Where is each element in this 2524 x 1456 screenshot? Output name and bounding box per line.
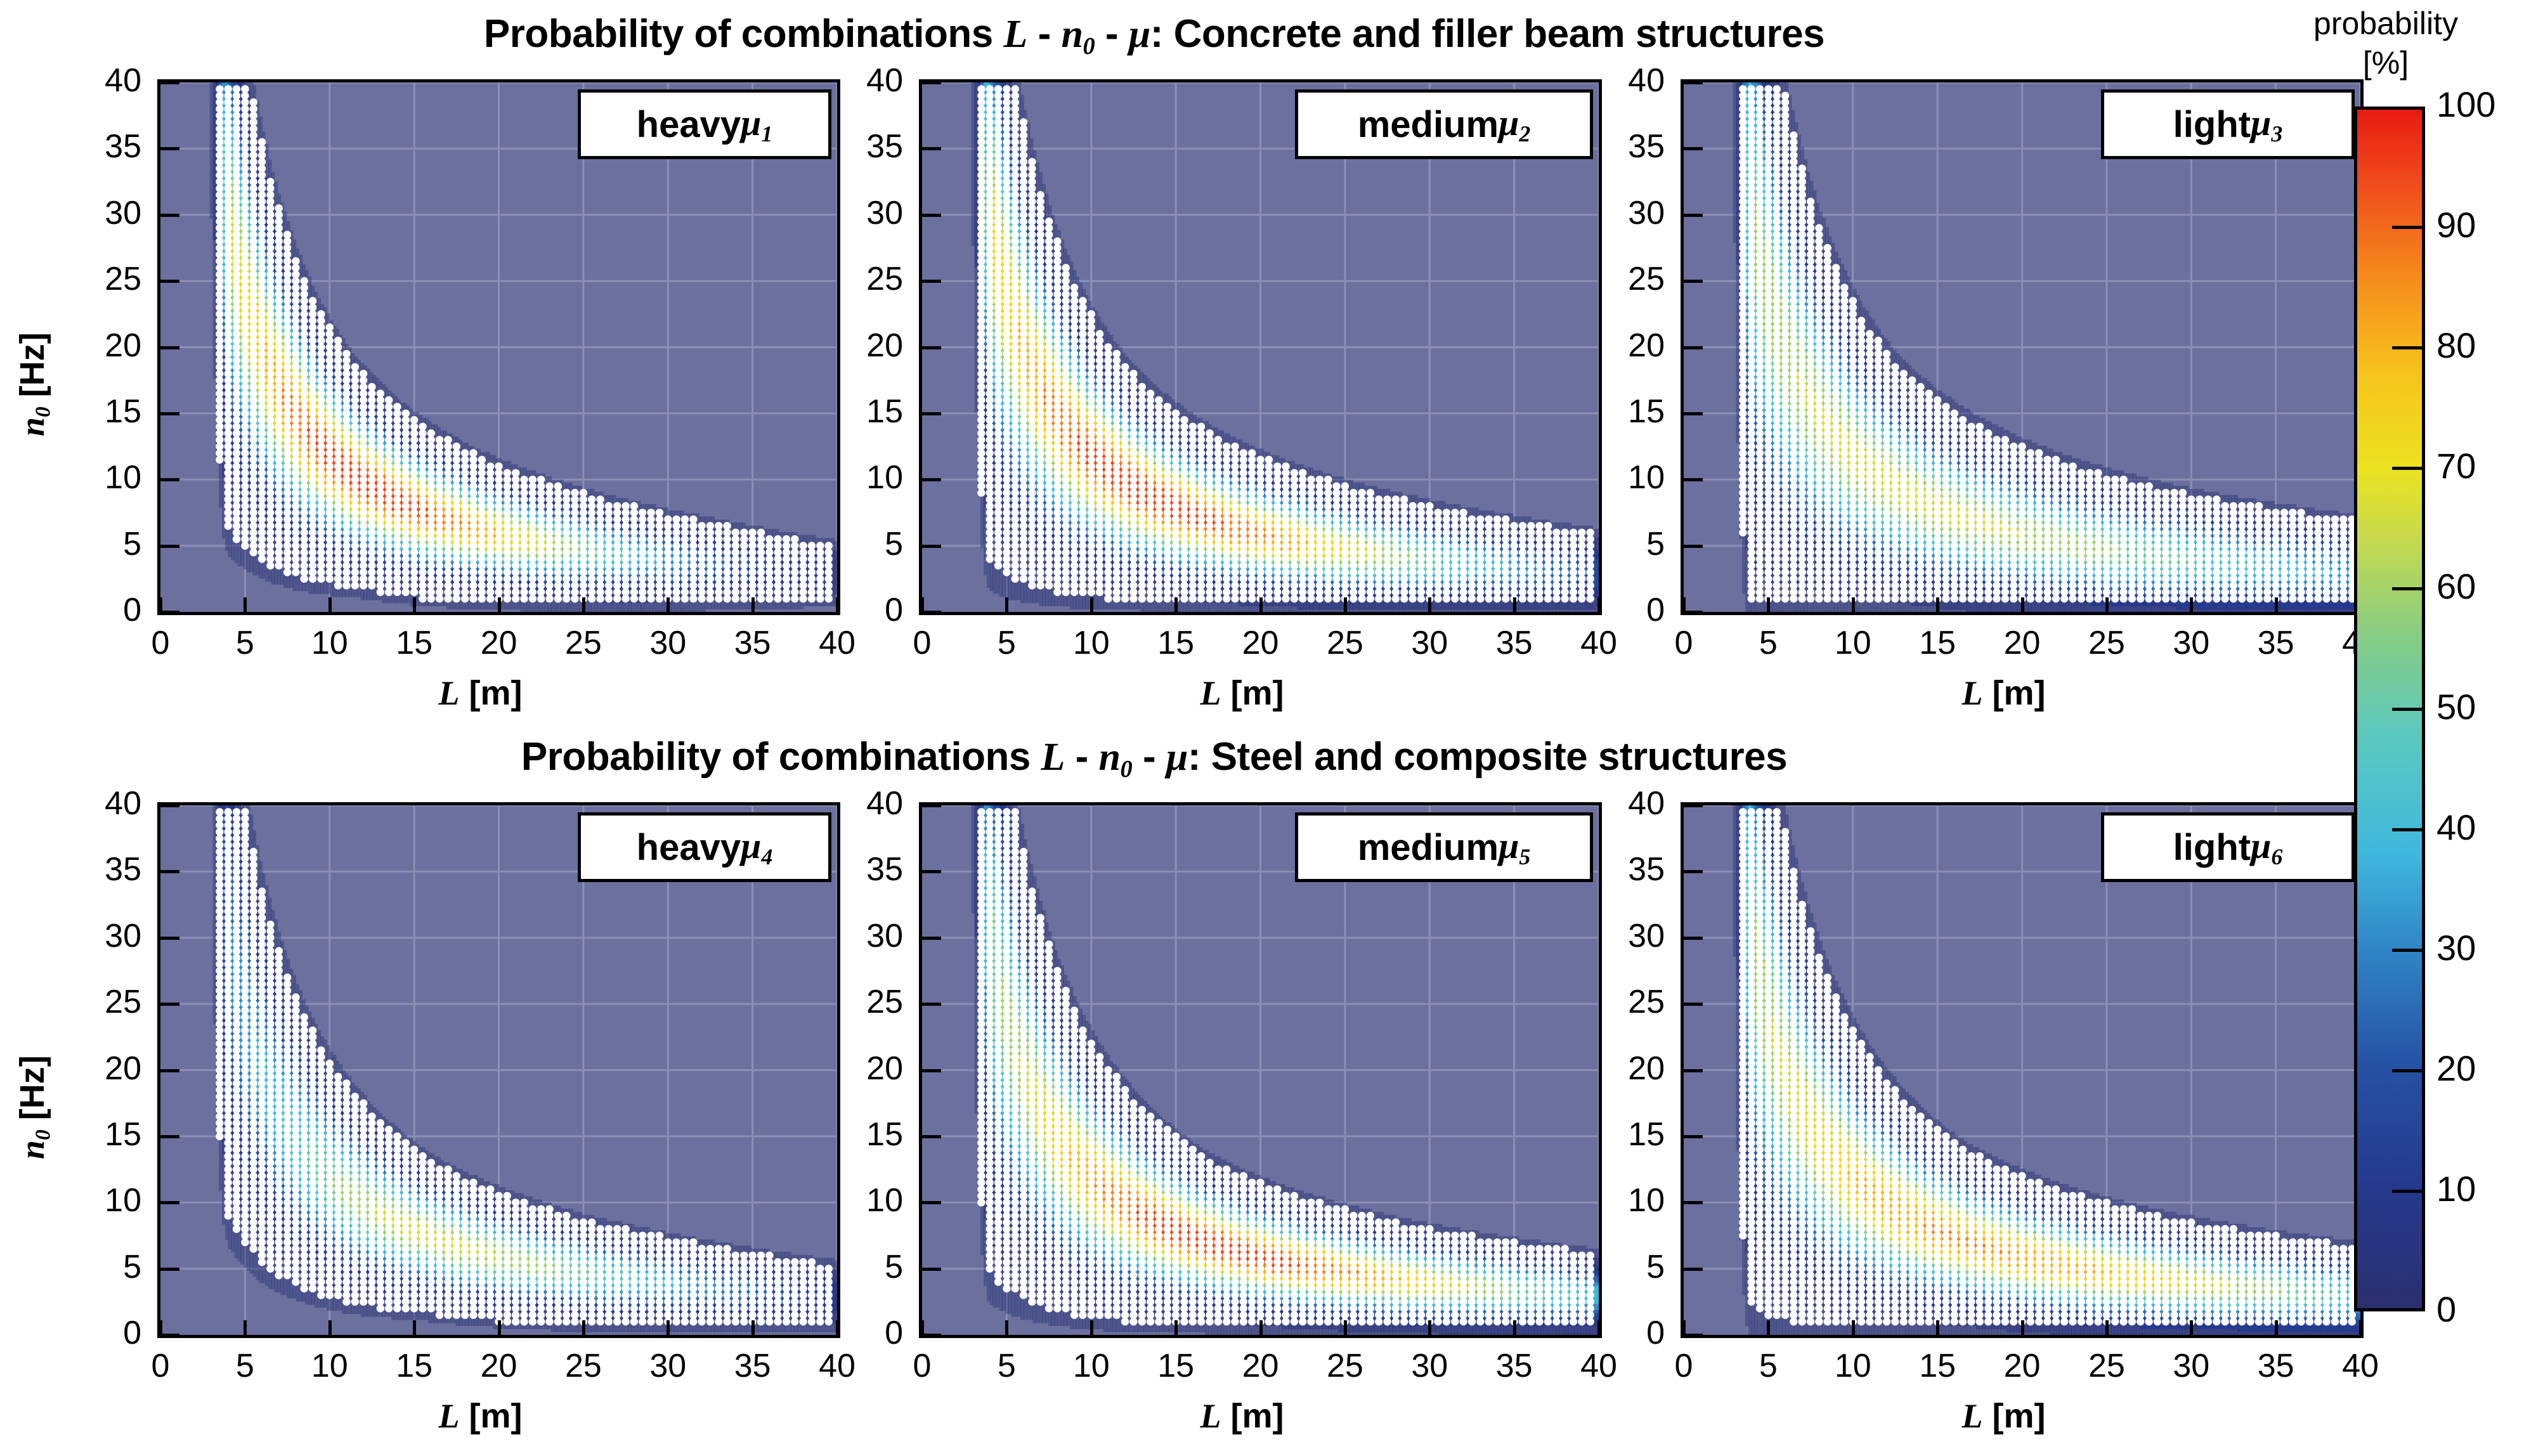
x-tickmark-p6-7 — [2275, 1320, 2278, 1337]
y-tick-p4-8: 40 — [46, 784, 141, 822]
y-tickmark-p6-3 — [1684, 1135, 1703, 1138]
x-tickmark-p4-6 — [667, 1320, 670, 1337]
colorbar-tick-label-0: 100 — [2436, 84, 2495, 125]
colorbar-tick-label-8: 20 — [2436, 1048, 2476, 1089]
y-tick-p3-4: 20 — [1570, 327, 1665, 365]
x-tick-p5-8: 40 — [1551, 1347, 1646, 1385]
x-tickmark-p2-5 — [1344, 597, 1347, 614]
x-tick-p5-7: 35 — [1467, 1347, 1562, 1385]
y-tickmark-p1-5 — [160, 280, 179, 283]
x-tickmark-p1-3 — [413, 597, 416, 614]
y-tickmark-p1-2 — [160, 478, 179, 481]
y-tick-p1-1: 5 — [46, 525, 141, 563]
y-axis-title-p1: n0 [Hz] — [13, 332, 55, 436]
x-tick-p3-7: 35 — [2228, 624, 2324, 662]
y-tick-p3-7: 35 — [1570, 127, 1665, 166]
x-tickmark-p4-1 — [244, 1320, 247, 1337]
x-tickmark-p3-5 — [2105, 597, 2109, 614]
plot-area-p6[interactable] — [1681, 802, 2364, 1338]
x-axis-title-p3: L [m] — [1962, 673, 2046, 713]
y-tickmark-p4-2 — [160, 1201, 179, 1204]
x-tickmark-p1-1 — [244, 597, 247, 614]
x-tickmark-p3-2 — [1852, 597, 1855, 614]
contour-canvas-p5 — [922, 805, 1599, 1335]
y-tickmark-p5-3 — [922, 1135, 941, 1138]
y-tickmark-p4-6 — [160, 937, 179, 940]
y-tick-p5-4: 20 — [808, 1050, 903, 1088]
y-tick-p6-5: 25 — [1570, 983, 1665, 1021]
x-tickmark-p2-7 — [1513, 597, 1516, 614]
badge-label-p5: medium — [1358, 826, 1499, 869]
x-tick-p2-7: 35 — [1467, 624, 1562, 662]
y-tick-p4-4: 20 — [46, 1050, 141, 1088]
x-tick-p6-6: 30 — [2143, 1347, 2239, 1385]
x-tick-p2-2: 10 — [1044, 624, 1139, 662]
y-axis-title-p4: n0 [Hz] — [13, 1055, 55, 1159]
badge-mu-p1: μ1 — [741, 101, 772, 147]
colorbar-tickmark-7 — [2392, 949, 2423, 952]
y-tickmark-p4-5 — [160, 1003, 179, 1006]
colorbar-tick-label-6: 40 — [2436, 807, 2476, 848]
x-tick-p3-5: 25 — [2059, 624, 2154, 662]
y-tick-p5-1: 5 — [808, 1248, 903, 1286]
y-tickmark-p5-8 — [922, 804, 941, 807]
x-tickmark-p2-3 — [1174, 597, 1178, 614]
y-tickmark-p4-8 — [160, 804, 179, 807]
y-tickmark-p2-6 — [922, 214, 941, 217]
colorbar-tickmark-6 — [2392, 828, 2423, 831]
x-tickmark-p3-3 — [1936, 597, 1939, 614]
x-tick-p1-5: 25 — [536, 624, 631, 662]
x-tick-p6-3: 15 — [1890, 1347, 1985, 1385]
x-axis-title-p1: L [m] — [439, 673, 523, 713]
row-title-1: Probability of combinations L - n0 - μ: … — [0, 734, 2308, 783]
x-tick-p3-0: 0 — [1636, 624, 1731, 662]
contour-canvas-p1 — [160, 82, 837, 612]
y-tick-p6-3: 15 — [1570, 1115, 1665, 1154]
plot-area-p3[interactable] — [1681, 79, 2364, 615]
y-tickmark-p1-1 — [160, 545, 179, 548]
panel-badge-p4: heavy μ4 — [578, 812, 831, 882]
panel-badge-p6: light μ6 — [2101, 812, 2355, 882]
y-tick-p5-7: 35 — [808, 850, 903, 888]
x-tickmark-p3-4 — [2021, 597, 2024, 614]
y-tick-p4-6: 30 — [46, 917, 141, 955]
y-tickmark-p3-4 — [1684, 346, 1703, 349]
x-tickmark-p4-2 — [329, 1320, 332, 1337]
row-title-var-mu: μ — [1129, 13, 1150, 56]
y-tick-p2-4: 20 — [808, 327, 903, 365]
contour-canvas-p3 — [1684, 82, 2360, 612]
y-tickmark-p3-2 — [1684, 478, 1703, 481]
colorbar-tickmark-8 — [2392, 1069, 2423, 1072]
x-tickmark-p4-3 — [413, 1320, 416, 1337]
x-tickmark-p5-1 — [1005, 1320, 1008, 1337]
panel-badge-p5: medium μ5 — [1295, 812, 1593, 882]
colorbar-tick-label-3: 70 — [2436, 445, 2476, 486]
badge-mu-p2: μ2 — [1499, 101, 1530, 147]
x-tick-p6-1: 5 — [1721, 1347, 1816, 1385]
x-axis-title-p4: L [m] — [439, 1396, 523, 1436]
badge-mu-p3: μ3 — [2251, 101, 2282, 147]
x-tickmark-p6-8 — [2359, 1320, 2362, 1337]
y-tick-p3-3: 15 — [1570, 393, 1665, 431]
colorbar-tick-label-9: 10 — [2436, 1168, 2476, 1209]
x-axis-title-p2: L [m] — [1200, 673, 1284, 713]
y-tickmark-p3-5 — [1684, 280, 1703, 283]
row-title-prefix: Probability of combinations — [484, 12, 1004, 56]
x-tickmark-p3-1 — [1767, 597, 1770, 614]
x-tick-p4-3: 15 — [367, 1347, 462, 1385]
y-tick-p6-2: 10 — [1570, 1181, 1665, 1219]
x-tickmark-p6-2 — [1852, 1320, 1855, 1337]
y-tick-p4-0: 0 — [46, 1314, 141, 1352]
y-tick-p1-5: 25 — [46, 260, 141, 298]
y-tick-p5-0: 0 — [808, 1314, 903, 1352]
colorbar-tick-label-5: 50 — [2436, 686, 2476, 727]
row-title-var-n: n0 — [1099, 736, 1133, 779]
badge-mu-p4: μ4 — [741, 824, 772, 870]
x-tickmark-p2-6 — [1428, 597, 1431, 614]
row-title-var-n: n0 — [1061, 13, 1095, 56]
y-tick-p5-5: 25 — [808, 983, 903, 1021]
x-tick-p2-8: 40 — [1551, 624, 1646, 662]
y-tick-p2-1: 5 — [808, 525, 903, 563]
colorbar-tick-label-4: 60 — [2436, 566, 2476, 607]
y-tick-p5-6: 30 — [808, 917, 903, 955]
y-tickmark-p2-0 — [922, 611, 941, 614]
y-tick-p4-7: 35 — [46, 850, 141, 888]
x-tickmark-p6-5 — [2105, 1320, 2109, 1337]
y-tick-p2-2: 10 — [808, 458, 903, 497]
y-tickmark-p3-8 — [1684, 81, 1703, 84]
x-axis-title-p5: L [m] — [1200, 1396, 1284, 1436]
x-tick-p4-2: 10 — [282, 1347, 377, 1385]
y-tickmark-p4-3 — [160, 1135, 179, 1138]
x-tick-p2-5: 25 — [1298, 624, 1393, 662]
y-tickmark-p4-0 — [160, 1334, 179, 1337]
x-tick-p5-1: 5 — [959, 1347, 1054, 1385]
x-tickmark-p3-7 — [2275, 597, 2278, 614]
figure-root: Probability of combinations L - n0 - μ: … — [0, 0, 2524, 1456]
y-tick-p1-7: 35 — [46, 127, 141, 166]
x-tickmark-p3-0 — [1682, 597, 1686, 614]
y-tickmark-p5-5 — [922, 1003, 941, 1006]
y-tick-p6-0: 0 — [1570, 1314, 1665, 1352]
x-tick-p4-1: 5 — [197, 1347, 292, 1385]
x-tick-p4-4: 20 — [452, 1347, 547, 1385]
row-title-0: Probability of combinations L - n0 - μ: … — [0, 11, 2308, 60]
y-tick-p3-5: 25 — [1570, 260, 1665, 298]
y-tickmark-p5-7 — [922, 870, 941, 873]
x-tickmark-p5-6 — [1428, 1320, 1431, 1337]
y-tickmark-p6-0 — [1684, 1334, 1703, 1337]
colorbar-title-line1: probability — [2221, 5, 2524, 42]
contour-canvas-p4 — [160, 805, 837, 1335]
x-tick-p1-2: 10 — [282, 624, 377, 662]
row-title-var-L: L — [1003, 13, 1027, 56]
colorbar-tick-label-2: 80 — [2436, 325, 2476, 366]
y-tickmark-p5-1 — [922, 1268, 941, 1271]
badge-label-p6: light — [2173, 826, 2251, 869]
y-tickmark-p1-3 — [160, 412, 179, 415]
x-tick-p6-0: 0 — [1636, 1347, 1731, 1385]
y-tick-p1-4: 20 — [46, 327, 141, 365]
colorbar-tickmark-5 — [2392, 708, 2423, 711]
x-tick-p2-4: 20 — [1213, 624, 1308, 662]
x-tick-p5-3: 15 — [1128, 1347, 1223, 1385]
y-tick-p4-3: 15 — [46, 1115, 141, 1154]
y-tickmark-p5-2 — [922, 1201, 941, 1204]
x-tickmark-p5-7 — [1513, 1320, 1516, 1337]
y-tickmark-p2-3 — [922, 412, 941, 415]
x-tickmark-p1-5 — [582, 597, 585, 614]
x-tick-p4-7: 35 — [705, 1347, 800, 1385]
y-tick-p6-6: 30 — [1570, 917, 1665, 955]
colorbar-tickmark-2 — [2392, 346, 2423, 349]
x-tickmark-p2-2 — [1090, 597, 1093, 614]
y-tickmark-p6-6 — [1684, 937, 1703, 940]
plot-area-p2[interactable] — [919, 79, 1602, 615]
y-tick-p2-7: 35 — [808, 127, 903, 166]
y-tickmark-p2-7 — [922, 147, 941, 150]
y-tick-p3-0: 0 — [1570, 591, 1665, 629]
x-tick-p5-5: 25 — [1298, 1347, 1393, 1385]
x-tick-p6-2: 10 — [1805, 1347, 1901, 1385]
colorbar-tickmark-1 — [2392, 226, 2423, 229]
x-tickmark-p4-0 — [159, 1320, 162, 1337]
panel-badge-p1: heavy μ1 — [578, 89, 831, 159]
panel-badge-p2: medium μ2 — [1295, 89, 1593, 159]
x-tick-p1-1: 5 — [197, 624, 292, 662]
contour-canvas-p2 — [922, 82, 1599, 612]
y-tickmark-p5-0 — [922, 1334, 941, 1337]
y-tickmark-p4-4 — [160, 1069, 179, 1072]
colorbar-tick-label-10: 0 — [2436, 1289, 2456, 1330]
y-tickmark-p1-8 — [160, 81, 179, 84]
y-tick-p6-1: 5 — [1570, 1248, 1665, 1286]
x-tickmark-p6-4 — [2021, 1320, 2024, 1337]
y-tick-p3-8: 40 — [1570, 62, 1665, 100]
row-title-suffix: Steel and composite structures — [1211, 735, 1787, 779]
y-tickmark-p6-4 — [1684, 1069, 1703, 1072]
y-tick-p4-2: 10 — [46, 1181, 141, 1219]
x-tick-p2-1: 5 — [959, 624, 1054, 662]
x-tickmark-p4-5 — [582, 1320, 585, 1337]
colorbar-tick-label-7: 30 — [2436, 927, 2476, 968]
y-tickmark-p3-6 — [1684, 214, 1703, 217]
x-tickmark-p6-1 — [1767, 1320, 1770, 1337]
y-tickmark-p6-2 — [1684, 1201, 1703, 1204]
x-tick-p6-7: 35 — [2228, 1347, 2324, 1385]
x-tick-p3-4: 20 — [1975, 624, 2070, 662]
y-tickmark-p1-4 — [160, 346, 179, 349]
y-tick-p3-1: 5 — [1570, 525, 1665, 563]
y-tick-p2-8: 40 — [808, 62, 903, 100]
x-tick-p1-8: 40 — [790, 624, 885, 662]
x-tick-p5-6: 30 — [1382, 1347, 1477, 1385]
x-tick-p1-6: 30 — [620, 624, 715, 662]
x-tickmark-p2-0 — [921, 597, 924, 614]
x-tickmark-p4-4 — [498, 1320, 501, 1337]
y-tick-p4-1: 5 — [46, 1248, 141, 1286]
colorbar-tickmark-3 — [2392, 467, 2423, 470]
x-tick-p6-8: 40 — [2313, 1347, 2408, 1385]
y-tickmark-p3-1 — [1684, 545, 1703, 548]
y-tick-p5-3: 15 — [808, 1115, 903, 1154]
row-title-suffix: Concrete and filler beam structures — [1174, 12, 1825, 56]
y-tickmark-p2-4 — [922, 346, 941, 349]
x-tick-p3-2: 10 — [1805, 624, 1901, 662]
x-tickmark-p1-4 — [498, 597, 501, 614]
y-tickmark-p2-1 — [922, 545, 941, 548]
y-tickmark-p6-7 — [1684, 870, 1703, 873]
y-tick-p6-4: 20 — [1570, 1050, 1665, 1088]
x-tickmark-p5-0 — [921, 1320, 924, 1337]
x-tick-p4-6: 30 — [620, 1347, 715, 1385]
row-title-prefix: Probability of combinations — [521, 735, 1041, 779]
x-tickmark-p5-2 — [1090, 1320, 1093, 1337]
x-tick-p2-6: 30 — [1382, 624, 1477, 662]
y-tick-p6-7: 35 — [1570, 850, 1665, 888]
row-title-var-mu: μ — [1166, 736, 1188, 779]
y-tickmark-p2-5 — [922, 280, 941, 283]
x-tick-p2-3: 15 — [1128, 624, 1223, 662]
plot-area-p1[interactable] — [157, 79, 840, 615]
x-tickmark-p6-0 — [1682, 1320, 1686, 1337]
x-tick-p4-0: 0 — [113, 1347, 208, 1385]
x-tickmark-p6-6 — [2190, 1320, 2193, 1337]
x-tick-p5-2: 10 — [1044, 1347, 1139, 1385]
x-tickmark-p1-2 — [329, 597, 332, 614]
y-tickmark-p1-6 — [160, 214, 179, 217]
x-tickmark-p6-3 — [1936, 1320, 1939, 1337]
badge-mu-p6: μ6 — [2251, 824, 2282, 870]
y-tick-p5-8: 40 — [808, 784, 903, 822]
y-tick-p6-8: 40 — [1570, 784, 1665, 822]
x-tick-p4-8: 40 — [790, 1347, 885, 1385]
y-tick-p1-2: 10 — [46, 458, 141, 497]
x-tickmark-p5-3 — [1174, 1320, 1178, 1337]
colorbar-tickmark-4 — [2392, 587, 2423, 590]
y-tick-p1-0: 0 — [46, 591, 141, 629]
panel-badge-p3: light μ3 — [2101, 89, 2355, 159]
x-tickmark-p2-4 — [1259, 597, 1263, 614]
y-tick-p3-2: 10 — [1570, 458, 1665, 497]
x-tick-p4-5: 25 — [536, 1347, 631, 1385]
colorbar-title-line2: [%] — [2221, 44, 2524, 81]
y-tickmark-p4-1 — [160, 1268, 179, 1271]
y-tick-p5-2: 10 — [808, 1181, 903, 1219]
x-tickmark-p5-4 — [1259, 1320, 1263, 1337]
y-tickmark-p6-5 — [1684, 1003, 1703, 1006]
y-tickmark-p3-7 — [1684, 147, 1703, 150]
x-tick-p5-0: 0 — [875, 1347, 970, 1385]
x-tick-p3-6: 30 — [2143, 624, 2239, 662]
x-tick-p1-7: 35 — [705, 624, 800, 662]
x-tick-p3-3: 15 — [1890, 624, 1985, 662]
x-tickmark-p4-7 — [751, 1320, 755, 1337]
x-tick-p3-1: 5 — [1721, 624, 1816, 662]
y-tickmark-p4-7 — [160, 870, 179, 873]
x-tickmark-p1-6 — [667, 597, 670, 614]
x-tick-p1-0: 0 — [113, 624, 208, 662]
x-tick-p5-4: 20 — [1213, 1347, 1308, 1385]
y-tick-p2-3: 15 — [808, 393, 903, 431]
x-tickmark-p5-5 — [1344, 1320, 1347, 1337]
x-tickmark-p1-0 — [159, 597, 162, 614]
y-tickmark-p3-3 — [1684, 412, 1703, 415]
x-tick-p6-4: 20 — [1975, 1347, 2070, 1385]
y-tick-p4-5: 25 — [46, 983, 141, 1021]
x-tickmark-p3-6 — [2190, 597, 2193, 614]
y-tick-p1-8: 40 — [46, 62, 141, 100]
badge-label-p3: light — [2173, 103, 2251, 146]
badge-mu-p5: μ5 — [1499, 824, 1530, 870]
x-tickmark-p2-1 — [1005, 597, 1008, 614]
y-tickmark-p5-4 — [922, 1069, 941, 1072]
x-tick-p2-0: 0 — [875, 624, 970, 662]
badge-label-p1: heavy — [637, 103, 741, 146]
y-tick-p1-3: 15 — [46, 393, 141, 431]
y-tick-p3-6: 30 — [1570, 194, 1665, 232]
colorbar-tickmark-9 — [2392, 1190, 2423, 1193]
y-tick-p2-5: 25 — [808, 260, 903, 298]
colorbar-tick-label-1: 90 — [2436, 204, 2476, 245]
y-tickmark-p1-0 — [160, 611, 179, 614]
contour-canvas-p6 — [1684, 805, 2360, 1335]
y-tickmark-p2-8 — [922, 81, 941, 84]
y-tick-p1-6: 30 — [46, 194, 141, 232]
plot-area-p4[interactable] — [157, 802, 840, 1338]
badge-label-p4: heavy — [637, 826, 741, 869]
y-tickmark-p6-1 — [1684, 1268, 1703, 1271]
badge-label-p2: medium — [1358, 103, 1499, 146]
y-tick-p2-6: 30 — [808, 194, 903, 232]
y-tick-p2-0: 0 — [808, 591, 903, 629]
x-tick-p1-3: 15 — [367, 624, 462, 662]
row-title-var-L: L — [1041, 736, 1065, 779]
y-tickmark-p2-2 — [922, 478, 941, 481]
x-axis-title-p6: L [m] — [1962, 1396, 2046, 1436]
y-tickmark-p5-6 — [922, 937, 941, 940]
x-tickmark-p1-7 — [751, 597, 755, 614]
y-tickmark-p1-7 — [160, 147, 179, 150]
x-tick-p6-5: 25 — [2059, 1347, 2154, 1385]
y-tickmark-p6-8 — [1684, 804, 1703, 807]
y-tickmark-p3-0 — [1684, 611, 1703, 614]
plot-area-p5[interactable] — [919, 802, 1602, 1338]
x-tick-p1-4: 20 — [452, 624, 547, 662]
